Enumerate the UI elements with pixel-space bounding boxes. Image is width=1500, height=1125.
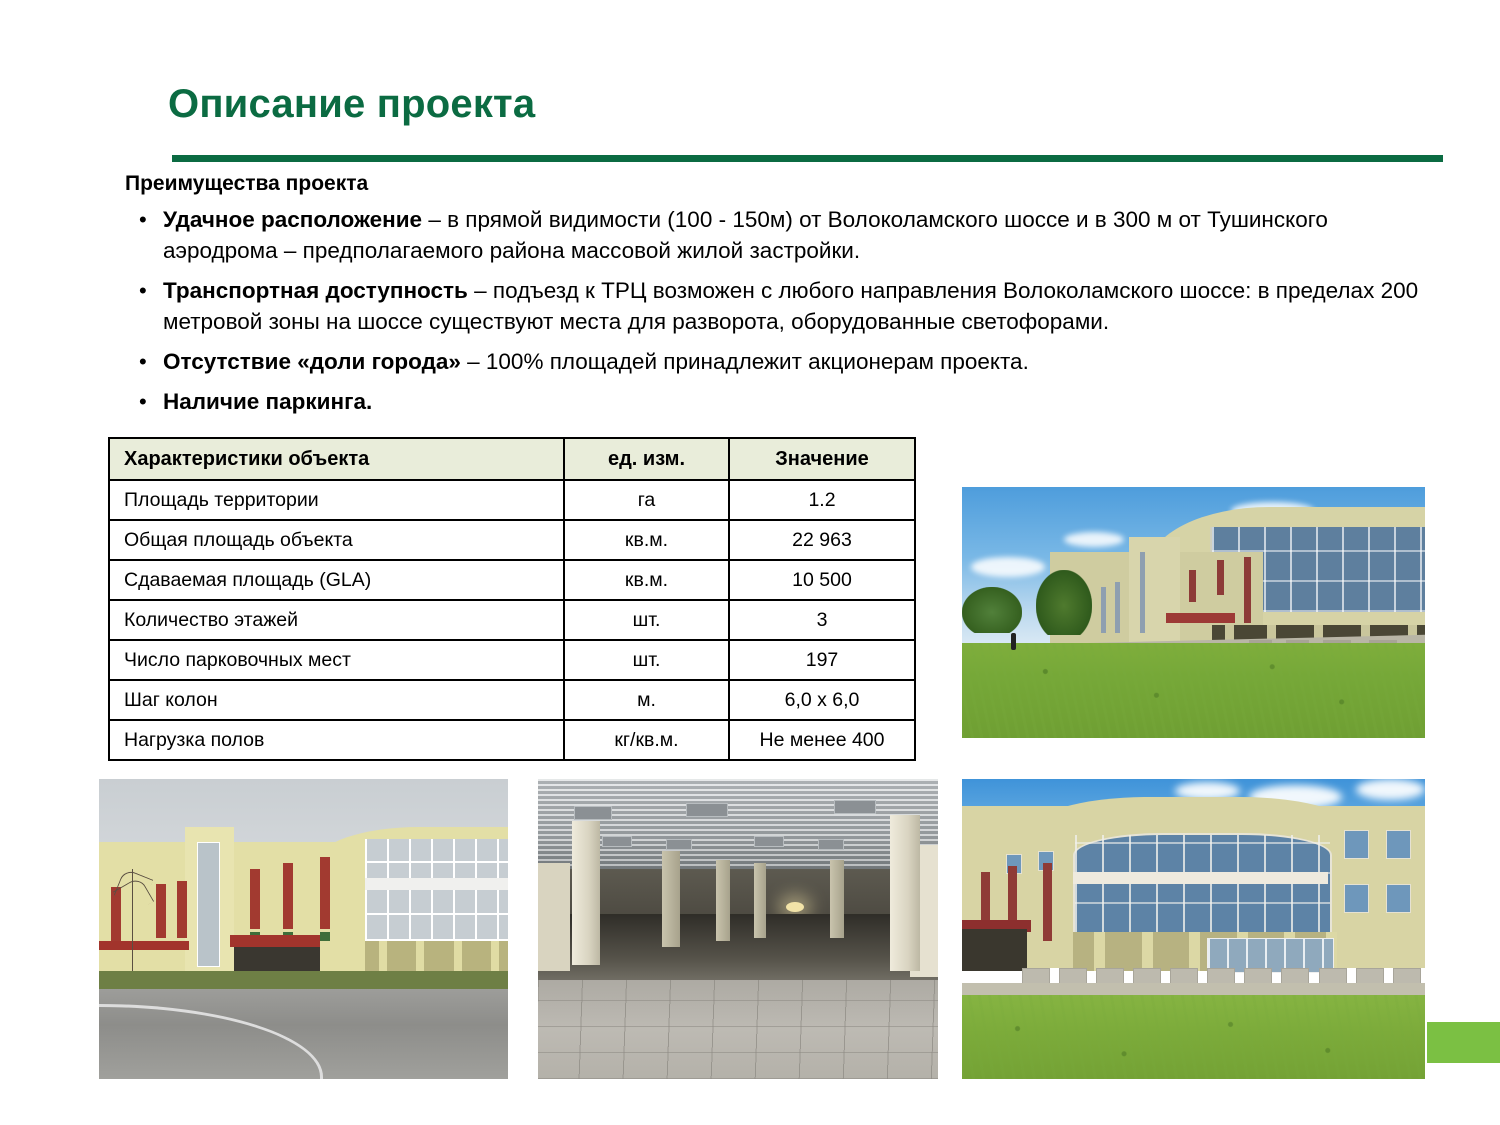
list-item: • Удачное расположение – в прямой видимо… xyxy=(125,204,1425,266)
list-item-lead: Транспортная доступность xyxy=(163,278,468,303)
title-divider xyxy=(172,155,1443,162)
column xyxy=(572,821,600,965)
grass-lawn xyxy=(962,643,1425,738)
red-accent-stripe xyxy=(981,872,990,920)
red-accent-stripe xyxy=(1217,560,1224,595)
green-accent-block xyxy=(320,932,330,941)
cell-characteristic: Количество этажей xyxy=(109,600,564,640)
table-row: Количество этажей шт. 3 xyxy=(109,600,915,640)
column-header-unit: ед. изм. xyxy=(564,438,729,480)
table-row: Общая площадь объекта кв.м. 22 963 xyxy=(109,520,915,560)
red-accent-stripe xyxy=(1244,557,1251,622)
table-row: Площадь территории га 1.2 xyxy=(109,480,915,520)
tree xyxy=(962,587,1022,632)
column-header-characteristic: Характеристики объекта xyxy=(109,438,564,480)
column xyxy=(716,860,730,941)
section-subheading: Преимущества проекта xyxy=(125,172,368,196)
exterior-front-photo xyxy=(962,779,1425,1079)
photo-scene xyxy=(962,487,1425,738)
side-wall-left xyxy=(538,863,570,971)
side-window xyxy=(1344,830,1369,859)
slot-window xyxy=(1101,587,1106,632)
list-item: • Транспортная доступность – подъезд к Т… xyxy=(125,275,1425,337)
cell-value: 3 xyxy=(729,600,915,640)
glass-curtain-wall xyxy=(1073,833,1332,936)
kerb-blocks xyxy=(962,968,1425,983)
interior-photo xyxy=(538,779,938,1079)
tower-window xyxy=(197,842,219,967)
cell-value: 22 963 xyxy=(729,520,915,560)
cell-characteristic: Нагрузка полов xyxy=(109,720,564,760)
table-row: Сдаваемая площадь (GLA) кв.м. 10 500 xyxy=(109,560,915,600)
table-row: Шаг колон м. 6,0 х 6,0 xyxy=(109,680,915,720)
side-window xyxy=(1386,830,1411,859)
object-specifications-table: Характеристики объекта ед. изм. Значение… xyxy=(108,437,916,761)
red-accent-stripe xyxy=(250,869,260,929)
grass-lawn xyxy=(962,995,1425,1079)
side-window xyxy=(1386,884,1411,913)
entrance-canopy xyxy=(1166,613,1235,623)
glass-spandrel-band xyxy=(365,878,508,890)
red-accent-stripe xyxy=(177,881,187,938)
pedestrian xyxy=(1011,633,1016,650)
red-accent-stripe xyxy=(283,863,293,929)
red-accent-stripe xyxy=(320,857,330,929)
entrance-opening xyxy=(234,947,320,974)
column xyxy=(754,863,766,938)
ceiling-vent xyxy=(686,803,728,817)
building-tower xyxy=(1129,537,1180,642)
list-item-lead: Наличие паркинга. xyxy=(163,389,372,414)
cell-characteristic: Площадь территории xyxy=(109,480,564,520)
side-window xyxy=(1344,884,1369,913)
list-item-lead: Отсутствие «доли города» xyxy=(163,349,461,374)
glass-spandrel-band xyxy=(1073,872,1328,884)
table-row: Число парковочных мест шт. 197 xyxy=(109,640,915,680)
ceiling-vent xyxy=(602,836,632,847)
slide: Описание проекта Преимущества проекта • … xyxy=(0,0,1500,1125)
ceiling-vent xyxy=(834,800,876,814)
cell-unit: кг/кв.м. xyxy=(564,720,729,760)
list-item-lead: Удачное расположение xyxy=(163,207,422,232)
bullet-marker: • xyxy=(139,386,147,417)
column xyxy=(890,815,920,971)
benefits-list: • Удачное расположение – в прямой видимо… xyxy=(125,204,1425,426)
exterior-sunny-photo xyxy=(962,487,1425,738)
ceiling-vent xyxy=(754,836,784,847)
bare-tree xyxy=(132,869,133,974)
list-item: • Наличие паркинга. xyxy=(125,386,1425,417)
corner-accent-block xyxy=(1427,1022,1500,1063)
red-accent-stripe xyxy=(156,884,166,938)
list-item: • Отсутствие «доли города» – 100% площад… xyxy=(125,346,1425,377)
cell-characteristic: Сдаваемая площадь (GLA) xyxy=(109,560,564,600)
slot-window xyxy=(1140,552,1145,632)
cell-unit: шт. xyxy=(564,640,729,680)
cell-value: 197 xyxy=(729,640,915,680)
ceiling-light xyxy=(786,902,804,912)
column xyxy=(830,860,844,938)
red-accent-stripe xyxy=(1189,570,1196,603)
cloud xyxy=(1356,779,1425,800)
page-title: Описание проекта xyxy=(168,82,535,127)
ceiling-vent xyxy=(574,806,612,820)
column xyxy=(662,851,680,947)
ceiling-vent xyxy=(666,839,692,850)
entrance-canopy xyxy=(230,935,320,947)
glass-curtain-wall xyxy=(365,839,508,941)
cell-value: 1.2 xyxy=(729,480,915,520)
red-accent-stripe xyxy=(1043,863,1052,941)
list-item-rest: – 100% площадей принадлежит акционерам п… xyxy=(461,349,1029,374)
cell-characteristic: Число парковочных мест xyxy=(109,640,564,680)
tiled-floor xyxy=(538,980,938,1079)
photo-scene xyxy=(538,779,938,1079)
cell-characteristic: Общая площадь объекта xyxy=(109,520,564,560)
cell-unit: шт. xyxy=(564,600,729,640)
photo-scene xyxy=(99,779,508,1079)
cell-value: 6,0 х 6,0 xyxy=(729,680,915,720)
photo-scene xyxy=(962,779,1425,1079)
cell-unit: кв.м. xyxy=(564,520,729,560)
slot-window xyxy=(1115,582,1120,632)
undercroft xyxy=(365,941,508,974)
cell-unit: кв.м. xyxy=(564,560,729,600)
cell-value: Не менее 400 xyxy=(729,720,915,760)
side-canopy xyxy=(99,941,189,950)
bullet-marker: • xyxy=(139,204,147,235)
cell-value: 10 500 xyxy=(729,560,915,600)
cell-unit: га xyxy=(564,480,729,520)
cell-unit: м. xyxy=(564,680,729,720)
tree xyxy=(1036,570,1092,635)
cell-characteristic: Шаг колон xyxy=(109,680,564,720)
exterior-overcast-photo xyxy=(99,779,508,1079)
bullet-marker: • xyxy=(139,346,147,377)
bullet-marker: • xyxy=(139,275,147,306)
column-header-value: Значение xyxy=(729,438,915,480)
ceiling-vent xyxy=(818,839,844,850)
table-row: Нагрузка полов кг/кв.м. Не менее 400 xyxy=(109,720,915,760)
table-header-row: Характеристики объекта ед. изм. Значение xyxy=(109,438,915,480)
entrance-opening xyxy=(962,929,1027,971)
